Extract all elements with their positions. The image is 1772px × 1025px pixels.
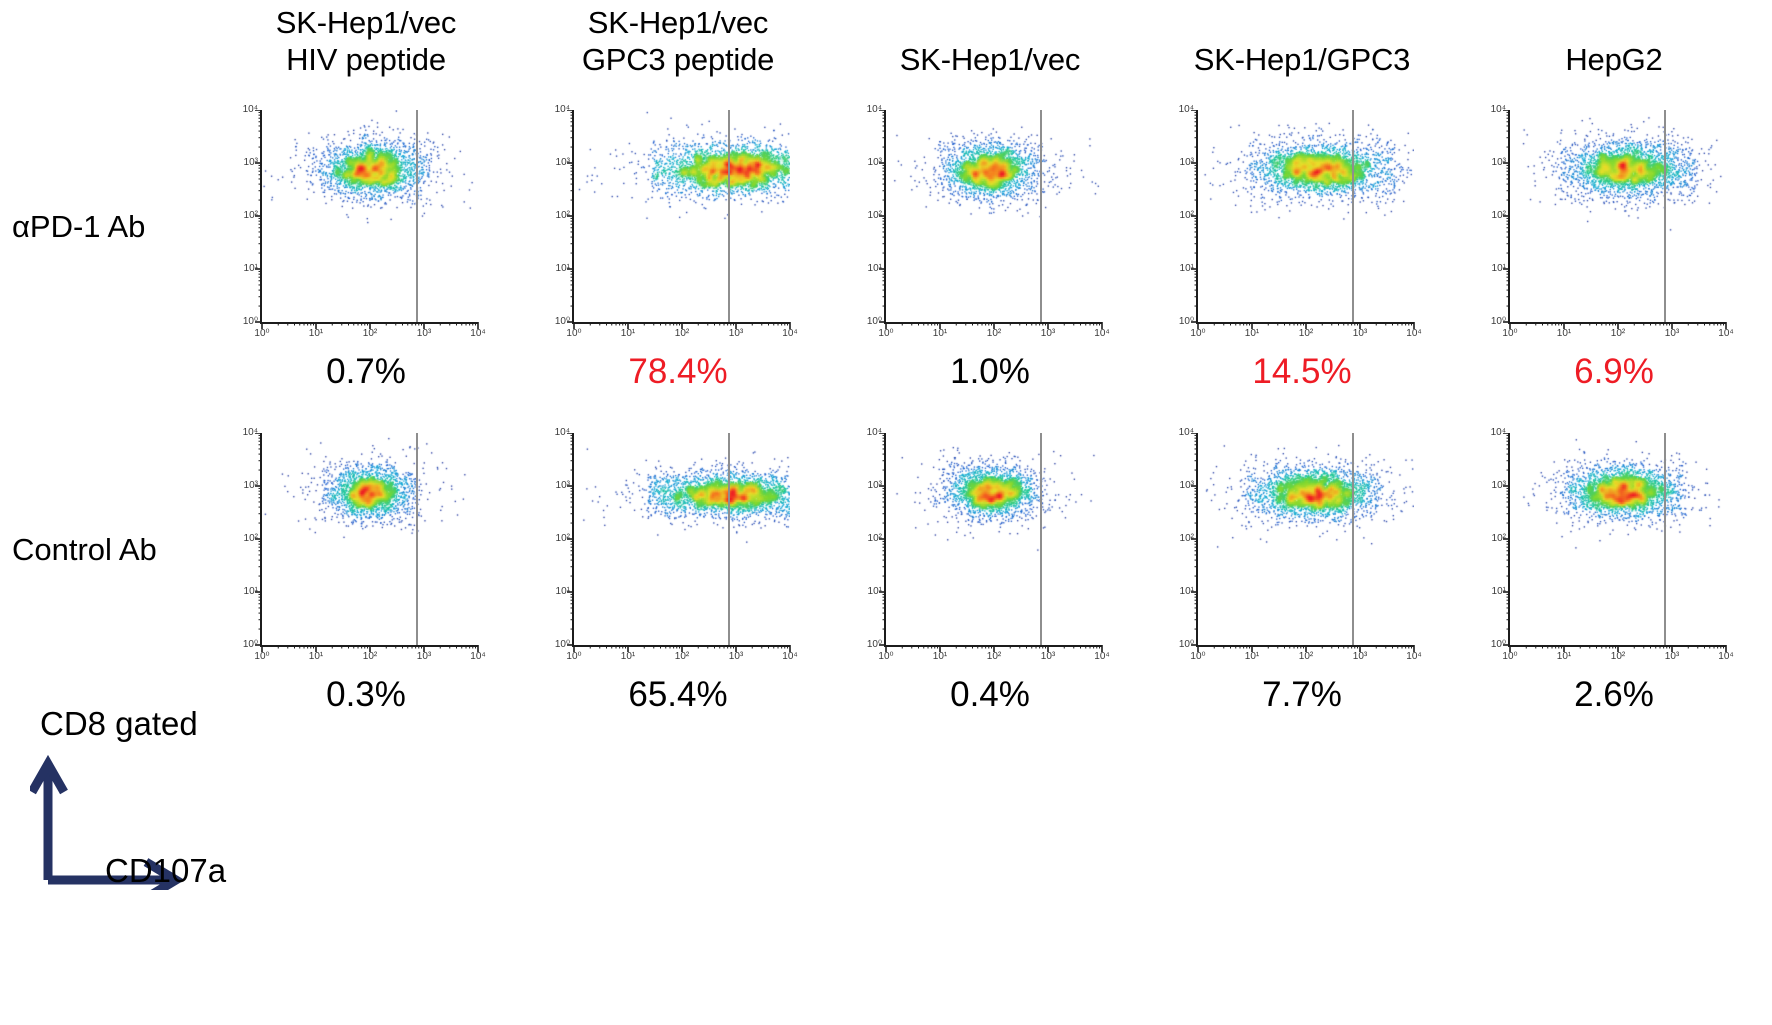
y-tick-label: 10³: [1492, 158, 1506, 168]
y-tick-label: 10¹: [244, 587, 258, 597]
column-header-line: HepG2: [1458, 41, 1770, 78]
x-tick-label: 10¹: [1557, 652, 1571, 662]
y-tick-label: 10¹: [868, 264, 882, 274]
y-tick-label: 10¹: [868, 587, 882, 597]
tick-marks: [554, 110, 794, 346]
x-tick-label: 10¹: [621, 329, 635, 339]
x-tick-label: 10⁰: [254, 652, 269, 662]
x-tick-label: 10¹: [621, 652, 635, 662]
y-tick-label: 10¹: [556, 264, 570, 274]
x-tick-label: 10²: [1299, 329, 1313, 339]
y-tick-label: 10²: [1180, 534, 1194, 544]
x-tick-label: 10¹: [309, 329, 323, 339]
plot-row-apd1-ab: 10⁰10¹10²10³10⁴10⁰10¹10²10³10⁴0.7%10⁰10¹…: [210, 104, 1770, 404]
y-tick-label: 10⁰: [1491, 317, 1506, 327]
gate-percentage-label: 6.9%: [1458, 352, 1770, 392]
panel-inner: 10⁰10¹10²10³10⁴10⁰10¹10²10³10⁴: [1160, 427, 1428, 675]
x-tick-label: 10⁰: [566, 329, 581, 339]
x-tick-label: 10⁰: [566, 652, 581, 662]
row-label-control-ab: Control Ab: [12, 533, 157, 567]
y-tick-label: 10⁴: [243, 105, 258, 115]
x-tick-label: 10⁴: [782, 329, 797, 339]
x-tick-label: 10³: [1353, 652, 1367, 662]
panel-inner: 10⁰10¹10²10³10⁴10⁰10¹10²10³10⁴: [1472, 104, 1740, 352]
plot-axes: 10⁰10¹10²10³10⁴10⁰10¹10²10³10⁴: [1196, 110, 1414, 324]
y-tick-label: 10⁰: [1491, 640, 1506, 650]
tick-marks: [242, 433, 482, 669]
y-tick-label: 10⁴: [867, 428, 882, 438]
y-tick-label: 10³: [556, 158, 570, 168]
y-tick-label: 10¹: [1180, 264, 1194, 274]
y-tick-label: 10²: [1180, 211, 1194, 221]
y-tick-label: 10²: [1492, 534, 1506, 544]
column-header-line: SK-Hep1/vec: [522, 4, 834, 41]
x-tick-label: 10²: [1611, 329, 1625, 339]
column-headers: SK-Hep1/vecHIV peptideSK-Hep1/vecGPC3 pe…: [210, 2, 1770, 97]
x-tick-label: 10³: [1353, 329, 1367, 339]
column-header-line: SK-Hep1/GPC3: [1146, 41, 1458, 78]
flow-panel: 10⁰10¹10²10³10⁴10⁰10¹10²10³10⁴0.3%: [210, 427, 522, 727]
x-tick-label: 10²: [1611, 652, 1625, 662]
y-tick-label: 10⁴: [555, 428, 570, 438]
tick-marks: [1178, 110, 1418, 346]
x-tick-label: 10⁴: [470, 652, 485, 662]
x-tick-label: 10²: [675, 329, 689, 339]
y-tick-label: 10⁰: [1179, 640, 1194, 650]
column-header-2: SK-Hep1/vec: [834, 2, 1146, 97]
y-tick-label: 10¹: [1492, 587, 1506, 597]
flow-panel: 10⁰10¹10²10³10⁴10⁰10¹10²10³10⁴14.5%: [1146, 104, 1458, 404]
plot-axes: 10⁰10¹10²10³10⁴10⁰10¹10²10³10⁴: [572, 433, 790, 647]
tick-marks: [866, 433, 1106, 669]
plot-axes: 10⁰10¹10²10³10⁴10⁰10¹10²10³10⁴: [1508, 433, 1726, 647]
x-tick-label: 10⁰: [1502, 652, 1517, 662]
y-tick-label: 10²: [868, 211, 882, 221]
tick-marks: [1490, 110, 1730, 346]
panel-inner: 10⁰10¹10²10³10⁴10⁰10¹10²10³10⁴: [536, 427, 804, 675]
y-tick-label: 10⁴: [555, 105, 570, 115]
y-tick-label: 10²: [244, 211, 258, 221]
gate-percentage-label: 0.7%: [210, 352, 522, 392]
panel-inner: 10⁰10¹10²10³10⁴10⁰10¹10²10³10⁴: [224, 427, 492, 675]
gate-percentage-label: 0.4%: [834, 675, 1146, 715]
axis-key: CD8 gated CD107a: [0, 695, 330, 1025]
plot-row-control-ab: 10⁰10¹10²10³10⁴10⁰10¹10²10³10⁴0.3%10⁰10¹…: [210, 427, 1770, 727]
y-tick-label: 10¹: [1492, 264, 1506, 274]
y-tick-label: 10⁴: [1491, 105, 1506, 115]
column-header-0: SK-Hep1/vecHIV peptide: [210, 2, 522, 97]
x-tick-label: 10²: [987, 652, 1001, 662]
y-tick-label: 10³: [244, 158, 258, 168]
x-tick-label: 10⁰: [1502, 329, 1517, 339]
column-header-1: SK-Hep1/vecGPC3 peptide: [522, 2, 834, 97]
x-tick-label: 10⁴: [1094, 329, 1109, 339]
column-header-line: SK-Hep1/vec: [210, 4, 522, 41]
plot-axes: 10⁰10¹10²10³10⁴10⁰10¹10²10³10⁴: [1508, 110, 1726, 324]
y-tick-label: 10³: [868, 158, 882, 168]
x-tick-label: 10⁰: [878, 329, 893, 339]
gate-percentage-label: 1.0%: [834, 352, 1146, 392]
x-tick-label: 10⁰: [254, 329, 269, 339]
x-tick-label: 10³: [729, 652, 743, 662]
y-tick-label: 10⁴: [867, 105, 882, 115]
y-tick-label: 10⁰: [243, 317, 258, 327]
tick-marks: [242, 110, 482, 346]
flow-panel: 10⁰10¹10²10³10⁴10⁰10¹10²10³10⁴2.6%: [1458, 427, 1770, 727]
plot-axes: 10⁰10¹10²10³10⁴10⁰10¹10²10³10⁴: [260, 110, 478, 324]
x-tick-label: 10²: [675, 652, 689, 662]
x-tick-label: 10²: [363, 329, 377, 339]
gate-percentage-label: 14.5%: [1146, 352, 1458, 392]
y-tick-label: 10⁰: [555, 317, 570, 327]
y-tick-label: 10³: [556, 481, 570, 491]
x-tick-label: 10⁰: [1190, 652, 1205, 662]
y-tick-label: 10³: [868, 481, 882, 491]
plot-axes: 10⁰10¹10²10³10⁴10⁰10¹10²10³10⁴: [1196, 433, 1414, 647]
x-tick-label: 10³: [1665, 329, 1679, 339]
x-tick-label: 10¹: [1245, 329, 1259, 339]
x-tick-label: 10³: [729, 329, 743, 339]
y-tick-label: 10²: [556, 211, 570, 221]
y-tick-label: 10⁰: [867, 317, 882, 327]
panel-inner: 10⁰10¹10²10³10⁴10⁰10¹10²10³10⁴: [848, 427, 1116, 675]
tick-marks: [554, 433, 794, 669]
gate-percentage-label: 65.4%: [522, 675, 834, 715]
flow-panel: 10⁰10¹10²10³10⁴10⁰10¹10²10³10⁴78.4%: [522, 104, 834, 404]
flow-panel: 10⁰10¹10²10³10⁴10⁰10¹10²10³10⁴1.0%: [834, 104, 1146, 404]
x-tick-label: 10⁰: [878, 652, 893, 662]
tick-marks: [866, 110, 1106, 346]
x-tick-label: 10¹: [309, 652, 323, 662]
column-header-line: SK-Hep1/vec: [834, 41, 1146, 78]
y-axis-key-label: CD8 gated: [40, 705, 198, 743]
plot-axes: 10⁰10¹10²10³10⁴10⁰10¹10²10³10⁴: [884, 433, 1102, 647]
y-tick-label: 10⁰: [555, 640, 570, 650]
plot-axes: 10⁰10¹10²10³10⁴10⁰10¹10²10³10⁴: [572, 110, 790, 324]
column-header-3: SK-Hep1/GPC3: [1146, 2, 1458, 97]
gate-percentage-label: 7.7%: [1146, 675, 1458, 715]
row-label-apd1-ab: αPD-1 Ab: [12, 210, 145, 244]
x-tick-label: 10¹: [933, 652, 947, 662]
y-tick-label: 10³: [1492, 481, 1506, 491]
column-header-line: GPC3 peptide: [522, 41, 834, 78]
y-tick-label: 10¹: [556, 587, 570, 597]
y-tick-label: 10¹: [244, 264, 258, 274]
column-header-line: HIV peptide: [210, 41, 522, 78]
gate-percentage-label: 78.4%: [522, 352, 834, 392]
y-tick-label: 10²: [556, 534, 570, 544]
x-tick-label: 10²: [987, 329, 1001, 339]
y-tick-label: 10³: [1180, 481, 1194, 491]
tick-marks: [1178, 433, 1418, 669]
column-header-4: HepG2: [1458, 2, 1770, 97]
y-tick-label: 10³: [244, 481, 258, 491]
flow-panel: 10⁰10¹10²10³10⁴10⁰10¹10²10³10⁴65.4%: [522, 427, 834, 727]
x-tick-label: 10⁴: [1094, 652, 1109, 662]
flow-panel: 10⁰10¹10²10³10⁴10⁰10¹10²10³10⁴7.7%: [1146, 427, 1458, 727]
x-tick-label: 10³: [1665, 652, 1679, 662]
flow-panel: 10⁰10¹10²10³10⁴10⁰10¹10²10³10⁴0.7%: [210, 104, 522, 404]
x-tick-label: 10⁴: [470, 329, 485, 339]
plot-axes: 10⁰10¹10²10³10⁴10⁰10¹10²10³10⁴: [884, 110, 1102, 324]
flow-panel: 10⁰10¹10²10³10⁴10⁰10¹10²10³10⁴6.9%: [1458, 104, 1770, 404]
x-tick-label: 10³: [417, 329, 431, 339]
y-tick-label: 10⁰: [243, 640, 258, 650]
y-tick-label: 10¹: [1180, 587, 1194, 597]
plot-axes: 10⁰10¹10²10³10⁴10⁰10¹10²10³10⁴: [260, 433, 478, 647]
x-tick-label: 10³: [1041, 652, 1055, 662]
x-tick-label: 10⁴: [782, 652, 797, 662]
y-tick-label: 10³: [1180, 158, 1194, 168]
y-tick-label: 10²: [868, 534, 882, 544]
y-tick-label: 10⁰: [867, 640, 882, 650]
x-tick-label: 10¹: [1245, 652, 1259, 662]
x-tick-label: 10¹: [1557, 329, 1571, 339]
y-tick-label: 10⁴: [243, 428, 258, 438]
panel-inner: 10⁰10¹10²10³10⁴10⁰10¹10²10³10⁴: [848, 104, 1116, 352]
x-tick-label: 10⁰: [1190, 329, 1205, 339]
x-tick-label: 10³: [1041, 329, 1055, 339]
panel-inner: 10⁰10¹10²10³10⁴10⁰10¹10²10³10⁴: [224, 104, 492, 352]
x-tick-label: 10²: [1299, 652, 1313, 662]
x-axis-key-label: CD107a: [105, 852, 226, 890]
y-tick-label: 10⁴: [1491, 428, 1506, 438]
panel-inner: 10⁰10¹10²10³10⁴10⁰10¹10²10³10⁴: [536, 104, 804, 352]
x-tick-label: 10²: [363, 652, 377, 662]
x-tick-label: 10⁴: [1406, 652, 1421, 662]
y-tick-label: 10⁰: [1179, 317, 1194, 327]
x-tick-label: 10¹: [933, 329, 947, 339]
x-tick-label: 10⁴: [1718, 652, 1733, 662]
gate-percentage-label: 2.6%: [1458, 675, 1770, 715]
flow-panel: 10⁰10¹10²10³10⁴10⁰10¹10²10³10⁴0.4%: [834, 427, 1146, 727]
panel-inner: 10⁰10¹10²10³10⁴10⁰10¹10²10³10⁴: [1160, 104, 1428, 352]
y-tick-label: 10⁴: [1179, 105, 1194, 115]
y-tick-label: 10²: [244, 534, 258, 544]
y-tick-label: 10²: [1492, 211, 1506, 221]
x-tick-label: 10³: [417, 652, 431, 662]
x-tick-label: 10⁴: [1718, 329, 1733, 339]
x-tick-label: 10⁴: [1406, 329, 1421, 339]
panel-inner: 10⁰10¹10²10³10⁴10⁰10¹10²10³10⁴: [1472, 427, 1740, 675]
tick-marks: [1490, 433, 1730, 669]
y-tick-label: 10⁴: [1179, 428, 1194, 438]
